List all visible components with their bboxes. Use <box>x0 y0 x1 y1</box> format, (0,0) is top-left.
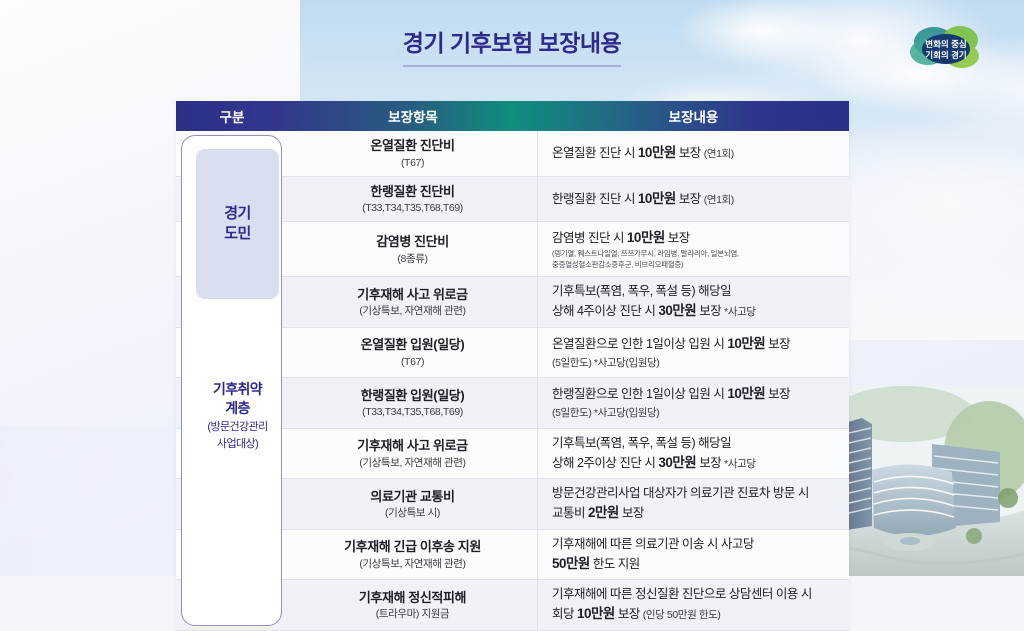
coverage-desc-line-1: 기후특보(폭염, 폭우, 폭설 등) 해당일 <box>552 435 839 453</box>
coverage-item-name: 온열질환 입원(일당) <box>361 336 465 354</box>
table-row: 온열질환 진단비(T67)온열질환 진단 시 10만원 보장 (연1회) <box>176 131 849 177</box>
coverage-item-cell: 기후재해 사고 위로금(기상특보, 자연재해 관련) <box>288 277 538 327</box>
coverage-item-cell: 감염병 진단비(8종류) <box>288 222 538 276</box>
coverage-desc-line-1: 기후재해에 따른 정신질환 진단으로 상담센터 이용 시 <box>552 586 839 604</box>
coverage-desc-detail-1: (뎅기열, 웨스트나일열, 쯔쯔가무시, 라임병, 말라리아, 일본뇌염, <box>552 249 839 259</box>
row-group-cell <box>176 222 288 276</box>
logo-line-2: 기회의 경기 <box>925 50 966 60</box>
page-title: 경기 기후보험 보장내용 <box>403 30 621 67</box>
coverage-item-name: 기후재해 사고 위로금 <box>357 437 467 455</box>
column-header-desc: 보장내용 <box>538 106 849 126</box>
logo-line-1: 변화의 중심 <box>925 39 966 49</box>
coverage-desc-cell: 감염병 진단 시 10만원 보장(뎅기열, 웨스트나일열, 쯔쯔가무시, 라임병… <box>538 222 849 276</box>
coverage-item-name: 의료기관 교통비 <box>370 488 454 506</box>
table-row: 한랭질환 입원(일당)(T33,T34,T35,T68,T69)한랭질환으로 인… <box>176 378 849 429</box>
table-row: 기후재해 사고 위로금(기상특보, 자연재해 관련)기후특보(폭염, 폭우, 폭… <box>176 277 849 328</box>
coverage-item-cell: 한랭질환 입원(일당)(T33,T34,T35,T68,T69) <box>288 378 538 428</box>
table-row: 기후재해 긴급 이후송 지원(기상특보, 자연재해 관련)기후재해에 따른 의료… <box>176 530 849 581</box>
coverage-desc-cell: 한랭질환 진단 시 10만원 보장 (연1회) <box>538 177 849 222</box>
coverage-item-code: (T67) <box>401 355 424 369</box>
coverage-item-cell: 한랭질환 진단비(T33,T34,T35,T68,T69) <box>288 177 538 222</box>
coverage-item-name: 기후재해 사고 위로금 <box>357 286 467 304</box>
coverage-desc-cell: 기후특보(폭염, 폭우, 폭설 등) 해당일상해 4주이상 진단 시 30만원 … <box>538 277 849 327</box>
coverage-desc-line-1: 방문건강관리사업 대상자가 의료기관 진료차 방문 시 <box>552 485 839 503</box>
coverage-desc-line-1: 한랭질환으로 인한 1일이상 입원 시 10만원 보장 <box>552 384 839 404</box>
coverage-item-name: 감염병 진단비 <box>376 233 449 251</box>
coverage-item-cell: 온열질환 진단비(T67) <box>288 131 538 176</box>
coverage-item-code: (기상특보, 자연재해 관련) <box>359 456 465 470</box>
coverage-desc-cell: 방문건강관리사업 대상자가 의료기관 진료차 방문 시교통비 2만원 보장 <box>538 479 849 529</box>
coverage-table: 구분 보장항목 보장내용 경기 도민 기후취약 계층 (방문건강관리 사업대상) <box>176 101 849 631</box>
coverage-desc-line-2: 상해 2주이상 진단 시 30만원 보장 *사고당 <box>552 453 839 473</box>
coverage-desc-cell: 한랭질환으로 인한 1일이상 입원 시 10만원 보장(5일한도) *사고당(입… <box>538 378 849 428</box>
coverage-desc-line-2: 50만원 한도 지원 <box>552 554 839 574</box>
coverage-item-name: 기후재해 긴급 이후송 지원 <box>344 538 481 556</box>
table-rows-host: 온열질환 진단비(T67)온열질환 진단 시 10만원 보장 (연1회)한랭질환… <box>176 131 849 631</box>
coverage-desc-detail-2: 중증열성혈소판감소증후군, 비브리오패혈증) <box>552 260 839 270</box>
table-row: 기후재해 사고 위로금(기상특보, 자연재해 관련)기후특보(폭염, 폭우, 폭… <box>176 429 849 480</box>
coverage-item-name: 온열질환 진단비 <box>370 137 454 155</box>
row-group-cell <box>176 378 288 428</box>
coverage-item-code: (기상특보, 자연재해 관련) <box>359 557 465 571</box>
coverage-item-name: 기후재해 정신적피해 <box>359 589 466 607</box>
coverage-item-cell: 온열질환 입원(일당)(T67) <box>288 328 538 378</box>
table-header-row: 구분 보장항목 보장내용 <box>176 101 849 131</box>
coverage-item-code: (T67) <box>401 156 424 170</box>
column-header-item: 보장항목 <box>288 106 538 126</box>
table-row: 감염병 진단비(8종류)감염병 진단 시 10만원 보장(뎅기열, 웨스트나일열… <box>176 222 849 277</box>
coverage-desc-line-2: (5일한도) *사고당(입원당) <box>552 404 839 422</box>
coverage-desc-cell: 기후재해에 따른 정신질환 진단으로 상담센터 이용 시회당 10만원 보장 (… <box>538 580 849 630</box>
table-row: 한랭질환 진단비(T33,T34,T35,T68,T69)한랭질환 진단 시 1… <box>176 177 849 223</box>
coverage-desc-cell: 기후특보(폭염, 폭우, 폭설 등) 해당일상해 2주이상 진단 시 30만원 … <box>538 429 849 479</box>
coverage-item-cell: 기후재해 긴급 이후송 지원(기상특보, 자연재해 관련) <box>288 530 538 580</box>
row-group-cell <box>176 328 288 378</box>
row-group-cell <box>176 530 288 580</box>
coverage-desc-line-1: 기후특보(폭염, 폭우, 폭설 등) 해당일 <box>552 283 839 301</box>
coverage-desc-line-1: 한랭질환 진단 시 10만원 보장 (연1회) <box>552 189 839 209</box>
coverage-desc-cell: 온열질환으로 인한 1일이상 입원 시 10만원 보장(5일한도) *사고당(입… <box>538 328 849 378</box>
page-title-wrap: 경기 기후보험 보장내용 <box>0 30 1024 67</box>
row-group-cell <box>176 131 288 176</box>
coverage-desc-line-2: 회당 10만원 보장 (인당 50만원 한도) <box>552 604 839 624</box>
gyeonggi-logo: 변화의 중심 기회의 경기 <box>900 18 992 76</box>
row-group-cell <box>176 277 288 327</box>
coverage-item-name: 한랭질환 진단비 <box>370 183 454 201</box>
coverage-item-cell: 기후재해 정신적피해(트라우마) 지원금 <box>288 580 538 630</box>
row-group-cell <box>176 177 288 222</box>
coverage-desc-line-1: 기후재해에 따른 의료기관 이송 시 사고당 <box>552 536 839 554</box>
coverage-desc-line-2: 상해 4주이상 진단 시 30만원 보장 *사고당 <box>552 301 839 321</box>
row-group-cell <box>176 580 288 630</box>
coverage-item-name: 한랭질환 입원(일당) <box>361 387 465 405</box>
coverage-item-code: (기상특보, 자연재해 관련) <box>359 304 465 318</box>
row-group-cell <box>176 479 288 529</box>
coverage-desc-line-2: (5일한도) *사고당(입원당) <box>552 354 839 372</box>
coverage-desc-line-1: 온열질환으로 인한 1일이상 입원 시 10만원 보장 <box>552 334 839 354</box>
coverage-item-code: (T33,T34,T35,T68,T69) <box>362 405 463 419</box>
column-header-group: 구분 <box>176 106 288 126</box>
coverage-desc-line-1: 감염병 진단 시 10만원 보장 <box>552 228 839 248</box>
table-row: 기후재해 정신적피해(트라우마) 지원금기후재해에 따른 정신질환 진단으로 상… <box>176 580 849 631</box>
coverage-desc-line-2: 교통비 2만원 보장 <box>552 503 839 523</box>
coverage-item-cell: 기후재해 사고 위로금(기상특보, 자연재해 관련) <box>288 429 538 479</box>
table-row: 온열질환 입원(일당)(T67)온열질환으로 인한 1일이상 입원 시 10만원… <box>176 328 849 379</box>
coverage-desc-line-1: 온열질환 진단 시 10만원 보장 (연1회) <box>552 143 839 163</box>
coverage-item-code: (8종류) <box>397 252 427 266</box>
coverage-item-cell: 의료기관 교통비(기상특보 시) <box>288 479 538 529</box>
table-body: 경기 도민 기후취약 계층 (방문건강관리 사업대상) 온열질환 진단비(T67… <box>176 131 849 631</box>
coverage-item-code: (T33,T34,T35,T68,T69) <box>362 201 463 215</box>
row-group-cell <box>176 429 288 479</box>
coverage-desc-cell: 기후재해에 따른 의료기관 이송 시 사고당50만원 한도 지원 <box>538 530 849 580</box>
coverage-desc-cell: 온열질환 진단 시 10만원 보장 (연1회) <box>538 131 849 176</box>
table-row: 의료기관 교통비(기상특보 시)방문건강관리사업 대상자가 의료기관 진료차 방… <box>176 479 849 530</box>
coverage-item-code: (기상특보 시) <box>385 506 440 520</box>
coverage-item-code: (트라우마) 지원금 <box>376 607 450 621</box>
